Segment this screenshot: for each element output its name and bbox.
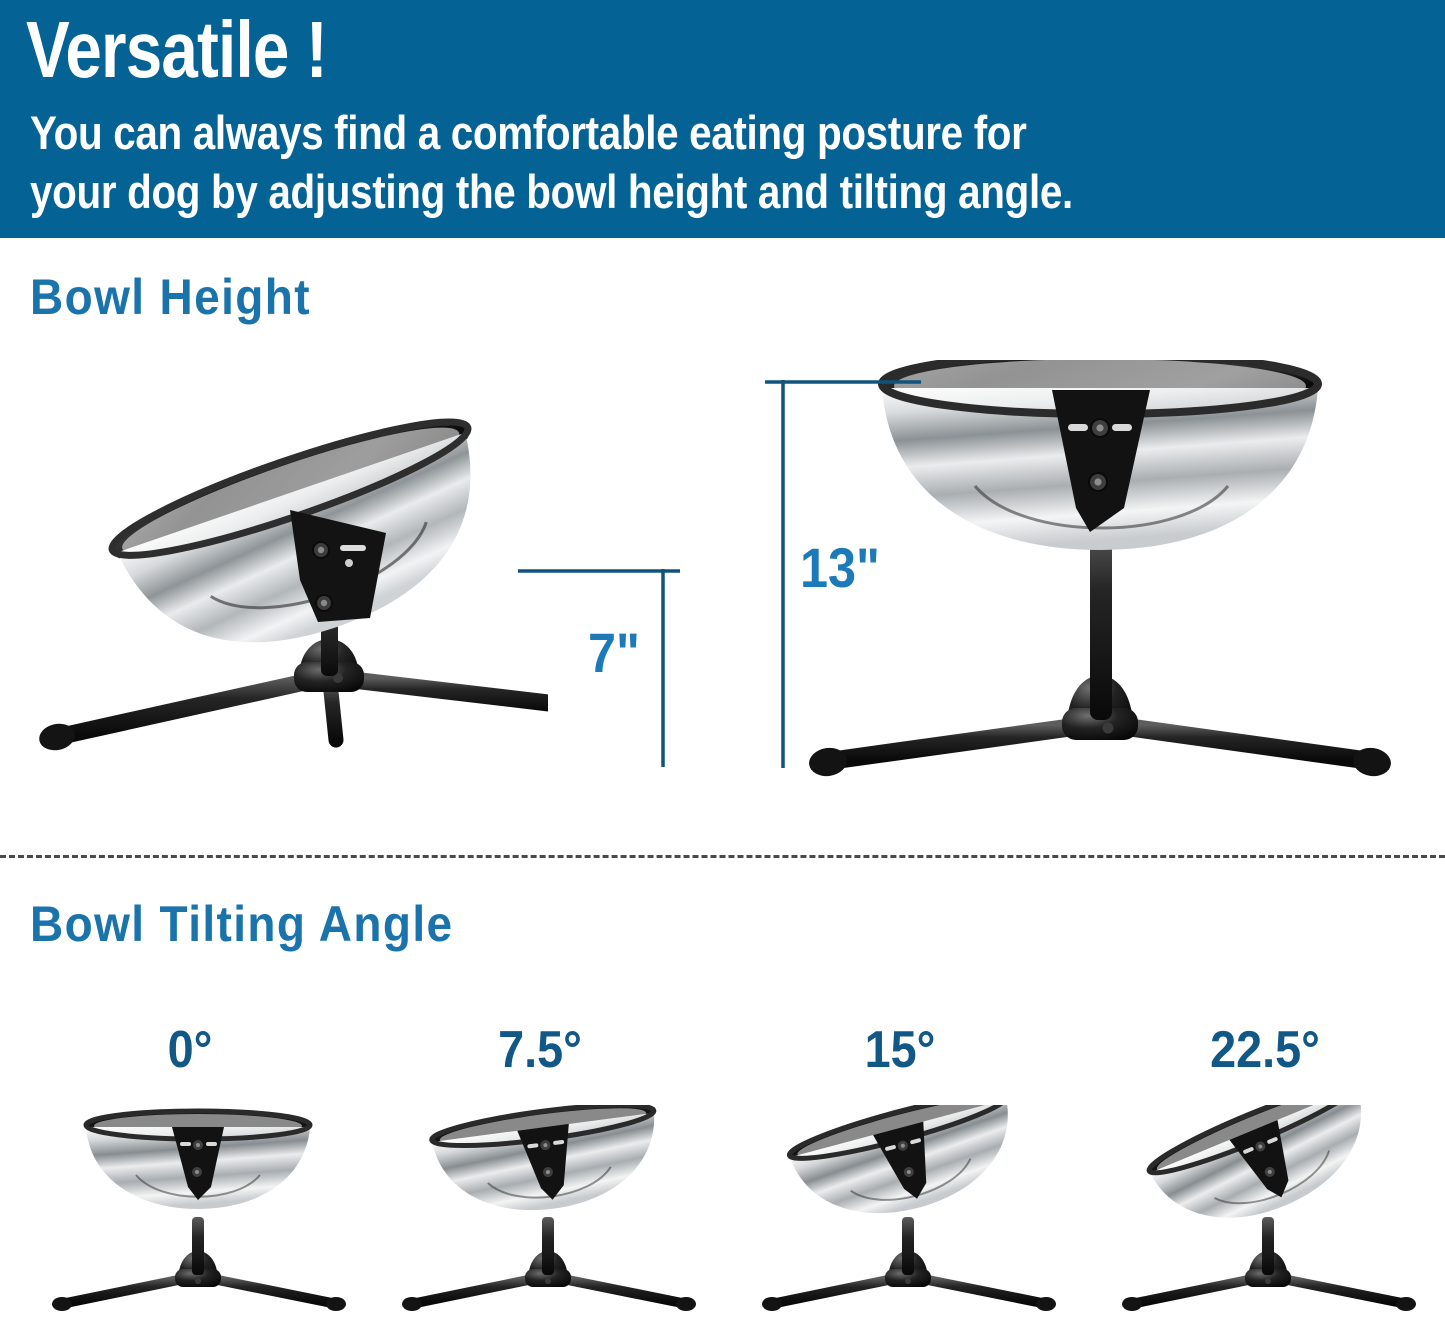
tilt-figure-7-5-degrees	[398, 1105, 698, 1320]
infographic-page: Versatile ! You can always find a comfor…	[0, 0, 1445, 1324]
tilt-figure-22-5-degrees	[1118, 1105, 1418, 1320]
tilt-figure-0-degrees	[48, 1105, 348, 1320]
section-heading-bowl-height: Bowl Height	[30, 268, 311, 326]
tilt-illustration-7-5	[398, 1105, 698, 1320]
header-banner: Versatile ! You can always find a comfor…	[0, 0, 1445, 238]
banner-subtitle: You can always find a comfortable eating…	[30, 103, 1251, 221]
support-post	[1262, 1217, 1274, 1275]
tilt-illustration-22-5	[1118, 1105, 1418, 1320]
banner-title: Versatile !	[26, 6, 327, 94]
angle-label-0: 0°	[42, 1020, 339, 1080]
banner-subtitle-line-2: your dog by adjusting the bowl height an…	[30, 162, 1251, 221]
angle-label-7-5: 7.5°	[392, 1020, 689, 1080]
product-figure-7-inch	[18, 410, 548, 780]
bowl-stand-low-illustration	[18, 410, 548, 780]
angle-label-15: 15°	[752, 1020, 1049, 1080]
section-heading-bowl-tilting-angle: Bowl Tilting Angle	[30, 895, 453, 953]
dimension-label-7-inch: 7"	[588, 620, 640, 685]
tilt-illustration-0	[48, 1105, 348, 1320]
tilt-illustration-15	[758, 1105, 1058, 1320]
support-post	[1090, 520, 1112, 720]
angle-label-22-5: 22.5°	[1117, 1020, 1414, 1080]
tilt-figure-15-degrees	[758, 1105, 1058, 1320]
section-divider	[0, 855, 1445, 858]
banner-subtitle-line-1: You can always find a comfortable eating…	[30, 103, 1251, 162]
support-post	[542, 1217, 554, 1275]
support-post	[192, 1217, 204, 1275]
tripod-legs	[37, 678, 548, 753]
support-post	[902, 1217, 914, 1275]
dimension-label-13-inch: 13"	[800, 535, 880, 600]
